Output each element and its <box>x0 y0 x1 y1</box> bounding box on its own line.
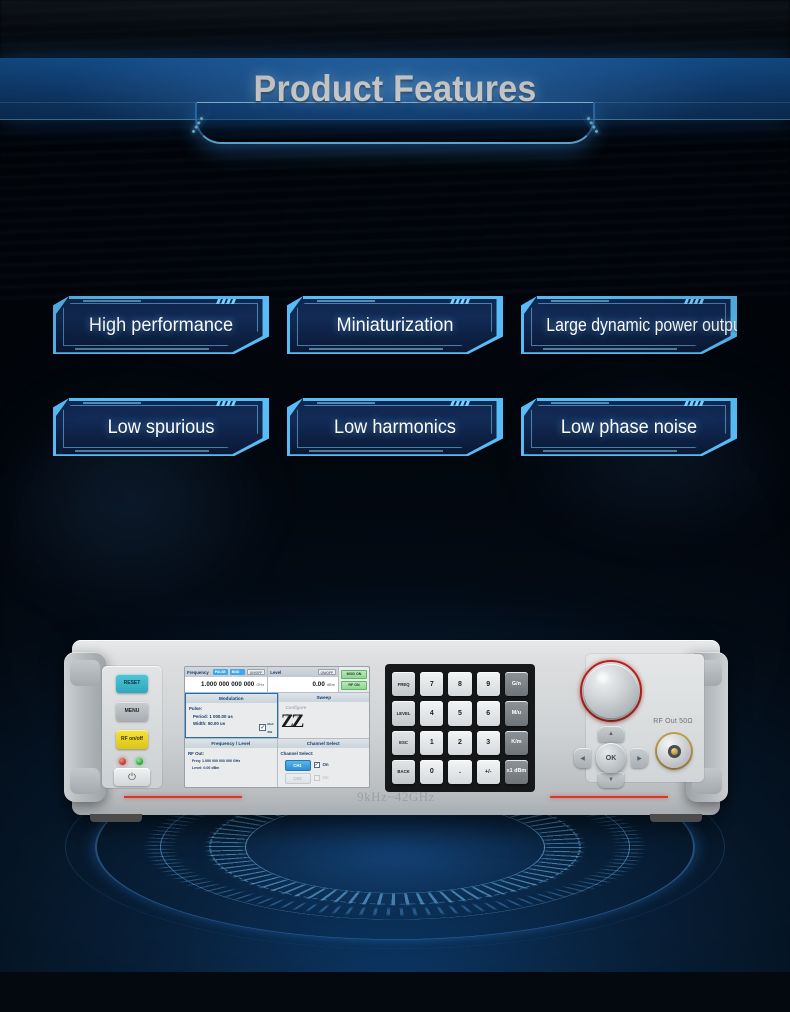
status-badge-mod-on: MOD ON <box>341 670 367 679</box>
instrument-display-screen[interactable]: Frequency PULSE MOD ON ON/OFF 1.000 000 … <box>184 666 370 788</box>
badge-notch-marks <box>451 299 469 304</box>
menu-button[interactable]: MENU <box>116 702 148 721</box>
screen-middle-row: Modulation Pulse: Period: 1 000.00 us Wi… <box>185 693 369 739</box>
device-foot-left <box>90 814 142 822</box>
badge-notch-marks <box>685 299 703 304</box>
key-level[interactable]: LEVEL <box>392 701 415 725</box>
key-6[interactable]: 6 <box>477 701 500 725</box>
background-clouds <box>0 0 790 300</box>
frequency-tag-onoff[interactable]: ON/OFF <box>247 669 265 675</box>
left-control-panel: RESET MENU RF on/off ⏻ <box>102 666 162 788</box>
rf-output-assembly: RF Out 50Ω <box>646 718 700 727</box>
badge-top-tick <box>317 402 375 404</box>
right-control-panel: ▲ ◀ ▶ ▼ OK RF Out 50Ω <box>568 660 696 792</box>
feature-label: Large dynamic power output <box>534 315 724 336</box>
red-led-indicator <box>119 758 126 765</box>
frequency-level-title: Frequency / Level <box>185 739 277 748</box>
rf-onoff-button[interactable]: RF on/off <box>116 730 148 749</box>
frequency-value-field[interactable]: 1.000 000 000 000 GHz <box>185 677 267 692</box>
modulation-period: Period: 1 000.00 us <box>189 713 274 721</box>
rf-out-label: RF Out: <box>188 750 274 758</box>
channel-button-ch2[interactable]: CH2 <box>285 773 311 784</box>
level-section[interactable]: Level ON/OFF 0.00 dBm <box>268 667 339 692</box>
rf-out-connector-label: RF Out 50Ω <box>646 718 700 725</box>
ch1-on-label: On <box>323 761 329 769</box>
ch2-on-checkbox[interactable] <box>314 775 320 781</box>
screen-top-row: Frequency PULSE MOD ON ON/OFF 1.000 000 … <box>185 667 369 693</box>
mod-sw-label-2: SW <box>267 730 272 734</box>
key-8[interactable]: 8 <box>448 672 471 696</box>
level-header: Level ON/OFF <box>268 667 338 677</box>
badge-bottom-tick <box>75 450 209 452</box>
key-back[interactable]: BACK <box>392 760 415 784</box>
key-esc[interactable]: ESC <box>392 731 415 755</box>
signal-generator-device: RESET MENU RF on/off ⏻ Frequency PULSE M… <box>72 640 720 815</box>
modulation-title: Modulation <box>186 694 277 703</box>
frequency-unit: GHz <box>256 683 264 687</box>
keypad-grid: FREQ 7 8 9 G/n LEVEL 4 5 6 M/u ESC 1 2 3… <box>392 672 528 784</box>
key-kilo-milli[interactable]: K/m <box>505 731 528 755</box>
key-decimal-point[interactable]: . <box>448 760 471 784</box>
frequency-tag-pulse[interactable]: PULSE <box>213 669 228 675</box>
feature-badge-large-dynamic-power-output[interactable]: Large dynamic power output <box>521 296 737 354</box>
feature-badge-grid: High performance Miniaturization Large d… <box>0 296 790 500</box>
badge-bottom-tick <box>309 348 443 350</box>
feature-badge-low-spurious[interactable]: Low spurious <box>53 398 269 456</box>
ok-button[interactable]: OK <box>596 743 626 773</box>
level-header-label: Level <box>270 670 281 675</box>
mod-sw-label-1: Mod <box>267 722 273 726</box>
frequency-header-label: Frequency <box>187 670 209 675</box>
reset-button[interactable]: RESET <box>116 674 148 693</box>
feature-label: Low harmonics <box>295 416 496 439</box>
navigation-dpad: ▲ ◀ ▶ ▼ OK <box>574 726 648 788</box>
badge-bottom-tick <box>543 348 677 350</box>
key-mega-micro[interactable]: M/u <box>505 701 528 725</box>
device-handle-left <box>64 652 106 802</box>
frequency-header: Frequency PULSE MOD ON ON/OFF <box>185 667 267 677</box>
key-x1-dbm[interactable]: x1 dBm <box>505 760 528 784</box>
badge-top-tick <box>317 300 375 302</box>
rf-out-level: Level: 0.00 dBm <box>188 765 274 773</box>
key-4[interactable]: 4 <box>420 701 443 725</box>
badge-notch-marks <box>217 401 235 406</box>
frequency-level-panel[interactable]: Frequency / Level RF Out: Freq: 1.000 00… <box>185 739 277 787</box>
badge-top-tick <box>83 300 141 302</box>
channel-button-ch1[interactable]: CH1 <box>285 760 311 771</box>
channel-select-label: Channel Select: <box>281 750 367 758</box>
feature-badge-low-phase-noise[interactable]: Low phase noise <box>521 398 737 456</box>
level-value-field[interactable]: 0.00 dBm <box>268 677 338 692</box>
key-5[interactable]: 5 <box>448 701 471 725</box>
channel-select-body: Channel Select: CH1 ✓ On CH2 On <box>278 748 370 787</box>
ch2-on-label: On <box>323 774 329 782</box>
key-2[interactable]: 2 <box>448 731 471 755</box>
numeric-keypad: FREQ 7 8 9 G/n LEVEL 4 5 6 M/u ESC 1 2 3… <box>385 664 535 792</box>
device-foot-right <box>650 814 702 822</box>
rf-out-freq: Freq: 1.000 000 000 000 GHz <box>188 758 274 766</box>
key-3[interactable]: 3 <box>477 731 500 755</box>
key-9[interactable]: 9 <box>477 672 500 696</box>
feature-label: High performance <box>61 314 262 337</box>
level-value: 0.00 <box>312 681 324 688</box>
feature-label: Miniaturization <box>295 314 496 337</box>
feature-label: Low phase noise <box>529 416 730 439</box>
rotary-knob-assembly[interactable] <box>580 660 642 722</box>
key-1[interactable]: 1 <box>420 731 443 755</box>
badge-top-tick <box>551 402 609 404</box>
level-tag-onoff[interactable]: ON/OFF <box>318 669 336 675</box>
feature-row-2: Low spurious Low harmonics Low phase noi… <box>0 398 790 456</box>
modulation-body: Pulse: Period: 1 000.00 us Width: 50.00 … <box>186 703 277 737</box>
frequency-level-body: RF Out: Freq: 1.000 000 000 000 GHz Leve… <box>185 748 277 787</box>
badge-notch-marks <box>451 401 469 406</box>
arrow-right-icon[interactable]: ▶ <box>631 748 648 768</box>
green-led-indicator <box>136 758 143 765</box>
screen-bottom-row: Frequency / Level RF Out: Freq: 1.000 00… <box>185 739 369 787</box>
badge-top-tick <box>551 300 609 302</box>
modulation-switch-checkbox[interactable]: ✓ Mod SW <box>259 720 273 735</box>
badge-top-tick <box>83 402 141 404</box>
channel-select-title: Channel Select <box>278 739 370 748</box>
feature-badge-high-performance[interactable]: High performance <box>53 296 269 354</box>
model-frequency-range-label: 9kHz~42GHz <box>72 789 720 805</box>
power-button[interactable]: ⏻ <box>114 768 150 786</box>
rotary-knob[interactable] <box>584 664 638 718</box>
key-7[interactable]: 7 <box>420 672 443 696</box>
page-title: Product Features <box>32 58 759 120</box>
badge-bottom-tick <box>75 348 209 350</box>
sweep-title: Sweep <box>279 693 370 702</box>
rf-output-connector[interactable] <box>657 734 691 768</box>
key-0[interactable]: 0 <box>420 760 443 784</box>
level-unit: dBm <box>327 683 335 687</box>
feature-badge-miniaturization[interactable]: Miniaturization <box>287 296 503 354</box>
page-header-banner: Product Features <box>0 58 790 142</box>
frequency-value: 1.000 000 000 000 <box>201 681 254 688</box>
arrow-left-icon[interactable]: ◀ <box>574 748 591 768</box>
badge-notch-marks <box>217 299 235 304</box>
ch1-on-checkbox[interactable]: ✓ <box>314 762 320 768</box>
key-giga-nano[interactable]: G/n <box>505 672 528 696</box>
key-plus-minus[interactable]: +/- <box>477 760 500 784</box>
frequency-section[interactable]: Frequency PULSE MOD ON ON/OFF 1.000 000 … <box>185 667 268 692</box>
modulation-mode: Pulse: <box>189 705 274 713</box>
feature-label: Low spurious <box>61 416 262 439</box>
badge-bottom-tick <box>309 450 443 452</box>
key-freq[interactable]: FREQ <box>392 672 415 696</box>
modulation-panel[interactable]: Modulation Pulse: Period: 1 000.00 us Wi… <box>185 693 278 738</box>
badge-notch-marks <box>685 401 703 406</box>
badge-bottom-tick <box>543 450 677 452</box>
channel-select-panel[interactable]: Channel Select Channel Select: CH1 ✓ On … <box>277 739 370 787</box>
frequency-tag-modon[interactable]: MOD ON <box>230 669 245 675</box>
checkbox-icon: ✓ <box>259 724 266 731</box>
status-indicator-group: MOD ON RF ON <box>339 667 369 692</box>
arrow-down-icon[interactable]: ▼ <box>598 772 624 788</box>
status-badge-rf-on: RF ON <box>341 681 367 690</box>
arrow-up-icon[interactable]: ▲ <box>598 726 624 742</box>
screen-watermark: ZZ <box>281 711 302 733</box>
feature-row-1: High performance Miniaturization Large d… <box>0 296 790 354</box>
feature-badge-low-harmonics[interactable]: Low harmonics <box>287 398 503 456</box>
